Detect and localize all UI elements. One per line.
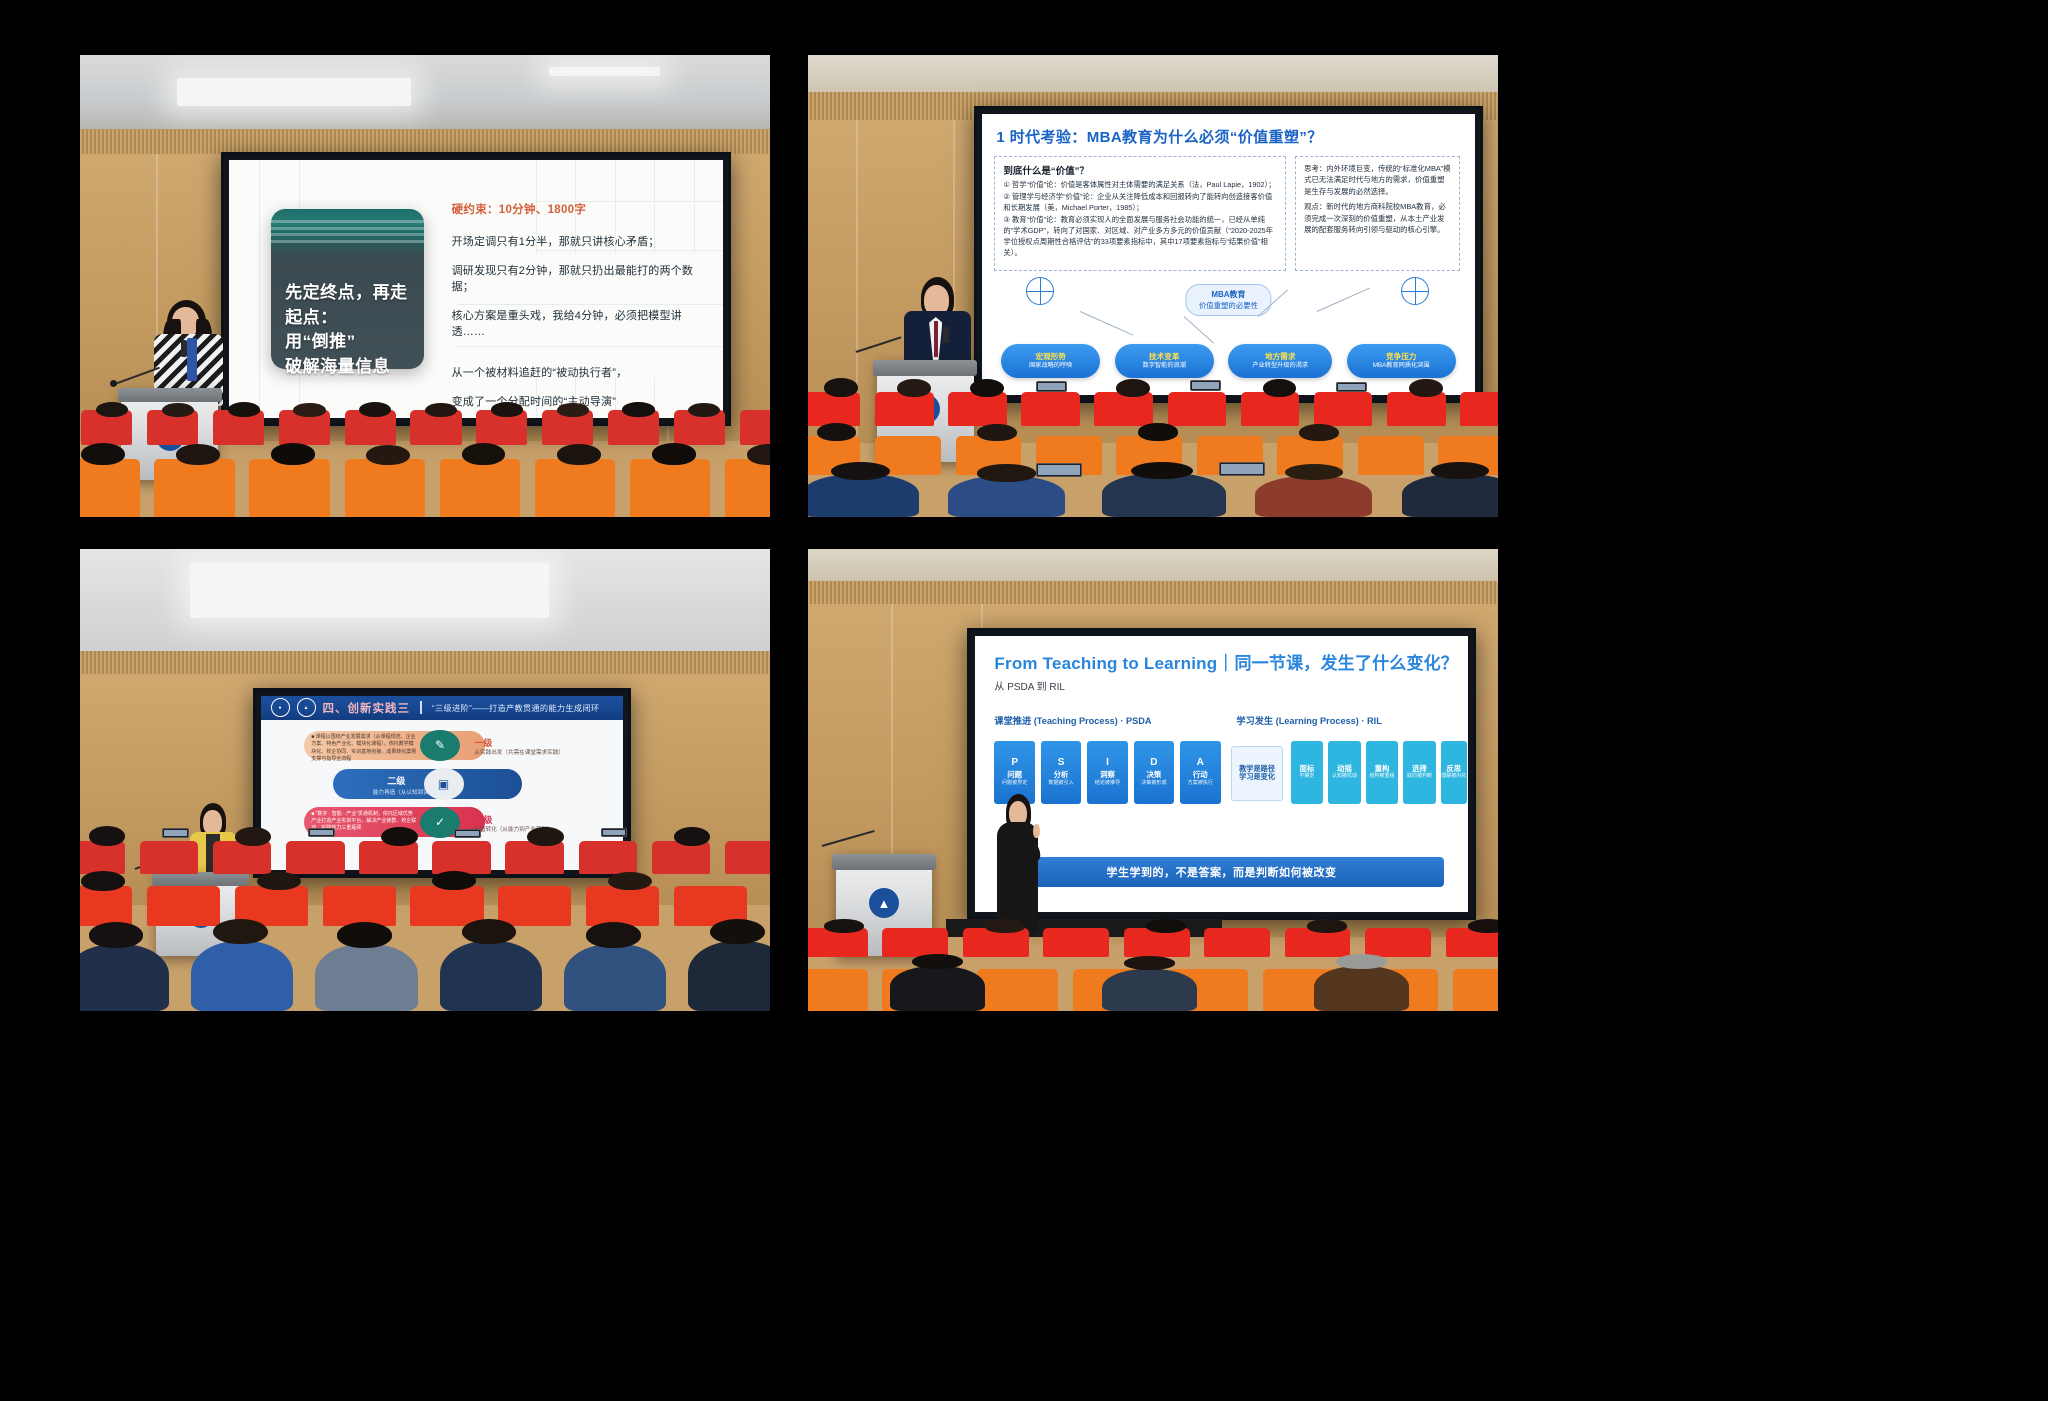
- university-seal-icon-2: ▲: [297, 698, 316, 717]
- capsule-tech: 技术变革 数字智能的浪潮: [1115, 344, 1214, 378]
- audience-head: [710, 919, 765, 945]
- podium-top: [832, 854, 936, 870]
- bridge-box: 教学是路径 学习是变化: [1231, 746, 1282, 801]
- audience-head: [432, 871, 476, 890]
- audience-head: [1299, 424, 1338, 441]
- step-name: 决策: [1146, 770, 1161, 779]
- audience-head: [366, 445, 410, 465]
- projection-screen: 先定终点，再走起点： 用“倒推” 破解海量信息 硬约束：10分钟、1800字 开…: [229, 160, 723, 418]
- audience-head: [228, 402, 260, 417]
- microphone-head: [110, 380, 117, 387]
- ceiling: [808, 55, 1498, 92]
- step-desc: 结论被推导: [1095, 781, 1120, 787]
- audience-area: [808, 378, 1498, 517]
- step-desc: 理解被内化: [1441, 774, 1466, 780]
- photo-panel-bottom-left: ● ▲ 四、创新实践三 “三级进阶”——打造产教贯通的能力生成闭环 ✎ 一级 从…: [80, 549, 770, 1011]
- step-key: D: [1150, 758, 1157, 768]
- audience-head: [81, 443, 125, 465]
- audience-head: [1146, 919, 1186, 933]
- audience-head: [674, 827, 711, 847]
- slide-subtitle: 从 PSDA 到 RIL: [994, 678, 1065, 693]
- header-divider: [420, 701, 422, 714]
- slide-header-bar: ● ▲ 四、创新实践三 “三级进阶”——打造产教贯通的能力生成闭环: [261, 696, 624, 720]
- slide-title: 1 时代考验：MBA教育为什么必须“价值重塑”？: [996, 126, 1322, 147]
- audience-head: [359, 402, 391, 418]
- psda-step-a: A 行动 方案被执行: [1180, 741, 1220, 805]
- slide-left-box: 到底什么是“价值”？ ① 哲学“价值”论：价值是客体属性对主体需要的满足关系（法…: [994, 156, 1285, 271]
- capsule-macro: 宏观形势 国家战略的呼唤: [1001, 344, 1100, 378]
- wall-slat-band: [808, 581, 1498, 604]
- audience-phone: [308, 828, 335, 838]
- audience-head: [257, 872, 301, 891]
- seat-row: [80, 402, 770, 448]
- step-key: S: [1058, 758, 1065, 768]
- audience-head: [985, 919, 1025, 932]
- audience-head: [557, 403, 589, 417]
- audience-head: [622, 402, 654, 417]
- step-key: P: [1011, 758, 1018, 768]
- audience-person: [890, 966, 985, 1011]
- step-key: A: [1197, 758, 1204, 768]
- audience-head: [213, 919, 268, 945]
- audience-phone: [454, 829, 481, 838]
- step-desc: 问题被界定: [1002, 781, 1027, 787]
- step-name: 分析: [1054, 770, 1069, 779]
- audience-head: [608, 872, 652, 891]
- audience-head: [897, 379, 931, 397]
- slide-header-number: 四、创新实践三: [323, 700, 411, 716]
- capsule-subtitle: 国家战略的呼唤: [1029, 362, 1072, 369]
- slide-list-item: ② 管理学与经济学“价值”论：企业从关注降低成本和回报转向了能转向创造接客价值和…: [1003, 192, 1276, 214]
- wall-slat-band: [80, 129, 770, 154]
- audience-head: [89, 922, 144, 948]
- level-2-label: 二级: [387, 774, 405, 787]
- audience-head: [293, 403, 325, 417]
- seat-row-front: [80, 919, 770, 1011]
- audience-person: [80, 944, 169, 1011]
- wall-slat-band: [80, 651, 770, 674]
- photo-panel-bottom-right: From Teaching to Learning｜同一节课，发生了什么变化？ …: [808, 549, 1498, 1011]
- step-desc: 取向被判断: [1407, 774, 1432, 780]
- audience-head: [89, 826, 126, 846]
- level-2-sub: 能力再造（从认知到实践深化）: [373, 788, 451, 796]
- psda-step-d: D 决策 决策被形成: [1134, 741, 1174, 805]
- audience-head: [527, 827, 564, 846]
- slide-note-1: ■ 课程以围绕产业发展需求（从课程规范、企业方案、特色产业化、模块化课程），依托…: [311, 734, 416, 763]
- projection-screen: 1 时代考验：MBA教育为什么必须“价值重塑”？ 到底什么是“价值”？ ① 哲学…: [982, 114, 1476, 395]
- speaker-figure: [987, 794, 1049, 933]
- psda-step-i: I 洞察 结论被推导: [1087, 741, 1127, 805]
- slide-question: 到底什么是“价值”？: [1003, 163, 1276, 177]
- audience-person: [1102, 473, 1226, 517]
- ceiling-skylight: [177, 78, 412, 106]
- seat-row: [808, 919, 1498, 958]
- audience-person: [315, 944, 417, 1011]
- slide-line: 核心方案是重头戏，我给4分钟，必须把模型讲透……: [452, 307, 704, 339]
- step-desc: 不确定: [1299, 774, 1314, 780]
- audience-head: [235, 827, 272, 846]
- audience-head: [652, 443, 696, 465]
- audience-head: [1307, 919, 1347, 932]
- capsule-title: 技术变革: [1149, 353, 1179, 361]
- audience-head: [831, 462, 890, 481]
- capsule-subtitle: 产业转型升级的渴求: [1252, 362, 1308, 369]
- lecture-hall-room: From Teaching to Learning｜同一节课，发生了什么变化？ …: [808, 549, 1498, 1011]
- audience-head: [912, 954, 963, 969]
- ceiling-skylight: [190, 563, 549, 618]
- capsule-subtitle: MBA教育同质化突围: [1373, 362, 1430, 369]
- hub-line-1: MBA教育: [1199, 289, 1258, 300]
- slide-list-item: ① 哲学“价值”论：价值是客体属性对主体需要的满足关系（法，Paul Lapie…: [1003, 180, 1276, 191]
- step-desc: 认知被扰动: [1332, 774, 1357, 780]
- audience-head: [271, 443, 315, 465]
- photo-collage: 先定终点，再走起点： 用“倒推” 破解海量信息 硬约束：10分钟、1800字 开…: [0, 0, 2048, 1401]
- step-desc: 数据被引入: [1048, 781, 1073, 787]
- slide-body: 硬约束：10分钟、1800字 开场定调只有1分半，那就只讲核心矛盾； 调研发现只…: [452, 201, 704, 418]
- audience-person: [1314, 966, 1409, 1011]
- ceiling: [808, 549, 1498, 581]
- ril-step-1: 面标 不确定: [1291, 741, 1324, 805]
- audience-person: [948, 476, 1065, 517]
- slide-banner: 学生学到的，不是答案，而是判断如何被改变: [999, 857, 1443, 887]
- lecture-hall-room: 先定终点，再走起点： 用“倒推” 破解海量信息 硬约束：10分钟、1800字 开…: [80, 55, 770, 517]
- audience-head: [1468, 919, 1499, 933]
- audience-phone: [162, 828, 189, 838]
- audience-head: [1138, 423, 1177, 440]
- ceiling-light-strip: [549, 67, 659, 76]
- audience-head: [977, 464, 1036, 482]
- step-name: 洞察: [1100, 770, 1115, 779]
- step-key: I: [1106, 758, 1109, 768]
- hub-line-2: 价值重塑的必要性: [1199, 300, 1258, 311]
- capsule-local: 地方需求 产业转型升级的渴求: [1228, 344, 1332, 378]
- university-seal-icon-1: ●: [271, 698, 290, 717]
- audience-head: [425, 403, 457, 418]
- audience-head: [557, 444, 601, 465]
- audience-head: [824, 378, 858, 397]
- step-name: 行动: [1193, 770, 1208, 779]
- audience-person: [1255, 476, 1372, 517]
- audience-head: [1431, 462, 1490, 480]
- audience-head: [1285, 464, 1344, 481]
- audience-person: [564, 944, 666, 1011]
- slide-title-card: 先定终点，再走起点： 用“倒推” 破解海量信息: [271, 209, 424, 369]
- lecture-hall-room: 1 时代考验：MBA教育为什么必须“价值重塑”？ 到底什么是“价值”？ ① 哲学…: [808, 55, 1498, 517]
- audience-person: [1402, 474, 1498, 517]
- audience-head: [1131, 462, 1193, 480]
- right-heading: 学习发生 (Learning Process) · RIL: [1236, 713, 1382, 727]
- step-name: 问题: [1007, 770, 1022, 779]
- photo-panel-top-left: 先定终点，再走起点： 用“倒推” 破解海量信息 硬约束：10分钟、1800字 开…: [80, 55, 770, 517]
- audience-phone: [1036, 463, 1082, 477]
- slide-paragraph: 思考：内外环境巨变，传统的“标准化MBA”模式已无法满足时代与地方的需求，价值重…: [1304, 163, 1451, 197]
- photo-panel-top-right: 1 时代考验：MBA教育为什么必须“价值重塑”？ 到底什么是“价值”？ ① 哲学…: [808, 55, 1498, 517]
- audience-head: [337, 922, 392, 948]
- step-desc: 结构被重组: [1369, 774, 1394, 780]
- projection-screen-frame: 1 时代考验：MBA教育为什么必须“价值重塑”？ 到底什么是“价值”？ ① 哲学…: [974, 106, 1484, 403]
- audience-head: [162, 403, 194, 418]
- audience-head: [96, 402, 128, 418]
- slide-header-subtitle: “三级进阶”——打造产教贯通的能力生成闭环: [432, 702, 599, 714]
- audience-person: [808, 474, 919, 517]
- bridge-line-2: 学习是变化: [1239, 773, 1275, 782]
- level-3-label: 三级: [474, 813, 492, 826]
- seat-row: [808, 378, 1498, 425]
- audience-person: [440, 941, 542, 1011]
- audience-area: [80, 826, 770, 1011]
- audience-head: [586, 922, 641, 948]
- projection-screen-frame: 先定终点，再走起点： 用“倒推” 破解海量信息 硬约束：10分钟、1800字 开…: [221, 152, 731, 426]
- globe-icon-left: [1026, 277, 1054, 305]
- slide-right-box: 思考：内外环境巨变，传统的“标准化MBA”模式已无法满足时代与地方的需求，价值重…: [1295, 156, 1460, 271]
- audience-phone: [1036, 381, 1067, 391]
- audience-head: [817, 423, 856, 441]
- ril-step-3: 重构 结构被重组: [1366, 741, 1399, 805]
- audience-phone: [1336, 382, 1367, 392]
- slide-title: From Teaching to Learning｜同一节课，发生了什么变化？: [994, 649, 1458, 674]
- seat-row-front: [808, 462, 1498, 517]
- audience-head: [81, 871, 125, 891]
- audience-head: [824, 919, 864, 933]
- audience-area: [80, 397, 770, 517]
- audience-person: [688, 941, 770, 1011]
- audience-head: [176, 444, 220, 465]
- audience-head: [688, 403, 720, 418]
- slide-list-item: ③ 教育“价值”论：教育必须实现人的全面发展与服务社会功能的统一，已经从单纯的“…: [1003, 215, 1276, 259]
- audience-head: [970, 379, 1004, 397]
- capsule-title: 宏观形势: [1036, 353, 1066, 361]
- slide-paragraph: 观点：新时代的地方商科院校MBA教育，必须完成一次深刻的价值重塑，从本土产业发展…: [1304, 201, 1451, 235]
- ril-step-2: 动摇 认知被扰动: [1328, 741, 1361, 805]
- audience-head: [1124, 956, 1175, 970]
- podium-top: [873, 360, 977, 376]
- seat-row: [80, 826, 770, 874]
- audience-head: [491, 402, 523, 417]
- step-desc: 决策被形成: [1141, 781, 1166, 787]
- audience-head: [1409, 379, 1443, 397]
- seat-row-front: [808, 954, 1498, 1011]
- audience-area: [808, 919, 1498, 1011]
- capsule-title: 竞争压力: [1386, 353, 1416, 361]
- audience-head: [381, 827, 418, 847]
- podium-logo: ▲: [869, 888, 899, 918]
- capsule-subtitle: 数字智能的浪潮: [1143, 362, 1186, 369]
- audience-phone: [601, 828, 628, 838]
- slide-line: 从一个被材料追赶的“被动执行者”，: [452, 364, 704, 380]
- ril-step-5: 反思 理解被内化: [1441, 741, 1467, 805]
- audience-phone: [1190, 380, 1221, 390]
- slide-hub-node: MBA教育 价值重塑的必要性: [1186, 284, 1271, 316]
- slide-line: 开场定调只有1分半，那就只讲核心矛盾；: [452, 233, 704, 249]
- slide-line: 调研发现只有2分钟，那就只扔出最能打的两个数据；: [452, 262, 704, 294]
- audience-head: [977, 424, 1016, 441]
- left-heading: 课堂推进 (Teaching Process) · PSDA: [994, 713, 1151, 727]
- audience-head: [462, 443, 506, 465]
- audience-person: [191, 941, 293, 1011]
- slide-highlight: 硬约束：10分钟、1800字: [452, 201, 704, 217]
- level-1-sub: 从实践出发（共需在课堂需求实践）: [474, 748, 564, 756]
- audience-phone: [1219, 462, 1265, 476]
- audience-head: [462, 919, 517, 945]
- level-1-icon: ✎: [420, 730, 460, 761]
- ril-step-4: 选择 取向被判断: [1403, 741, 1436, 805]
- audience-person: [1102, 969, 1197, 1011]
- lecture-hall-room: ● ▲ 四、创新实践三 “三级进阶”——打造产教贯通的能力生成闭环 ✎ 一级 从…: [80, 549, 770, 1011]
- audience-head: [1116, 379, 1150, 397]
- capsule-competition: 竞争压力 MBA教育同质化突围: [1347, 344, 1456, 378]
- seat-row: [80, 443, 770, 517]
- globe-icon-right: [1401, 277, 1429, 305]
- step-desc: 方案被执行: [1188, 781, 1213, 787]
- audience-head: [1263, 379, 1297, 397]
- audience-head: [1336, 954, 1387, 969]
- level-1-label: 一级: [474, 736, 492, 749]
- slide-card-title: 先定终点，再走起点： 用“倒推” 破解海量信息: [285, 281, 414, 380]
- capsule-title: 地方需求: [1265, 353, 1295, 361]
